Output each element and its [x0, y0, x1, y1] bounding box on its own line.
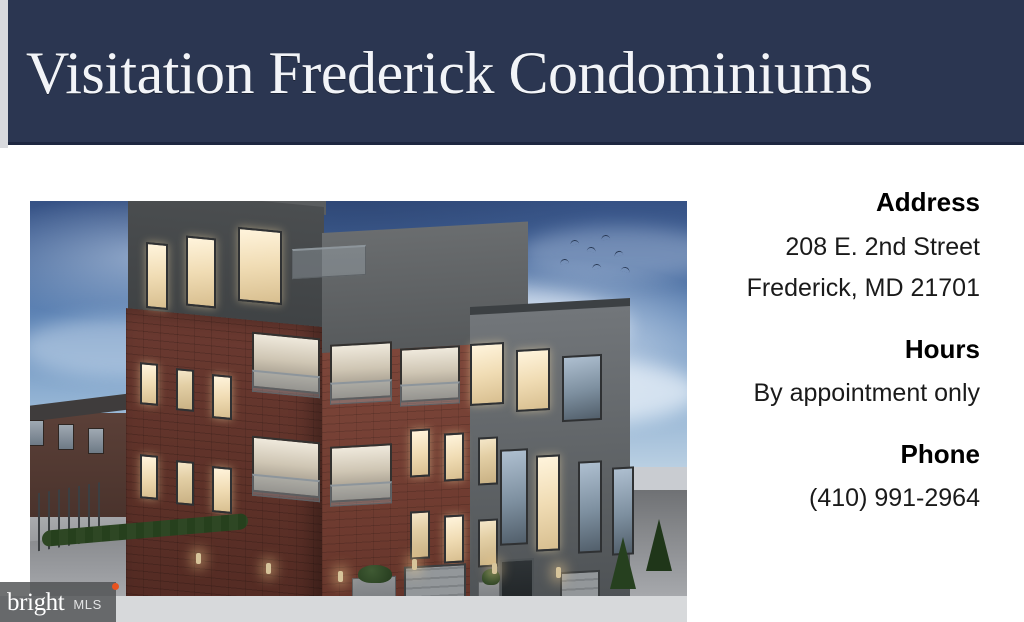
bright-mls-watermark: bright MLS	[0, 582, 116, 622]
rendering-artwork	[0, 167, 687, 622]
wing-window	[578, 460, 602, 553]
upper-window	[516, 348, 550, 412]
address-street: 208 E. 2nd Street	[699, 231, 980, 264]
roof-terrace-rail	[292, 245, 366, 279]
wing-window	[500, 448, 528, 546]
facade-window	[212, 374, 232, 420]
shrub	[482, 569, 500, 585]
bird	[560, 259, 569, 265]
facade-window	[478, 518, 498, 567]
neighbour-window	[58, 424, 74, 450]
facade-window	[140, 362, 158, 406]
building-rendering-photo: bright MLS	[0, 167, 687, 622]
facade-window	[176, 368, 194, 412]
wall-sconce	[338, 571, 343, 582]
balcony-rail	[330, 379, 392, 404]
balcony-rail	[330, 481, 392, 506]
info-group-address: Address 208 E. 2nd Street Frederick, MD …	[699, 186, 980, 305]
penthouse-window	[238, 227, 282, 305]
hours-heading: Hours	[699, 333, 980, 366]
facade-window	[478, 436, 498, 485]
address-heading: Address	[699, 186, 980, 219]
conifer-tree	[610, 537, 636, 589]
mls-brand-text: bright	[7, 590, 64, 615]
facade-window	[410, 510, 430, 559]
penthouse-window	[146, 242, 168, 310]
upper-window	[470, 342, 504, 406]
facade-window	[176, 460, 194, 506]
hours-value: By appointment only	[699, 377, 980, 410]
upper-window	[562, 354, 602, 422]
info-group-hours: Hours By appointment only	[699, 333, 980, 410]
left-edge-strip	[0, 0, 8, 148]
building-entry-door	[500, 558, 534, 618]
property-info-panel: Address 208 E. 2nd Street Frederick, MD …	[687, 150, 1024, 622]
wall-sconce	[492, 563, 497, 574]
garage-door	[560, 570, 600, 618]
phone-number[interactable]: (410) 991-2964	[699, 482, 980, 515]
garage-door	[404, 563, 466, 616]
balcony-rail	[400, 381, 460, 406]
wall-sconce	[196, 553, 201, 564]
phone-heading: Phone	[699, 438, 980, 471]
wall-sconce	[412, 559, 417, 570]
penthouse-window	[186, 236, 216, 309]
facade-window	[410, 428, 430, 477]
neighbour-window	[28, 420, 44, 446]
page-title: Visitation Frederick Condominiums	[8, 43, 873, 103]
mls-suffix-text: MLS	[73, 597, 102, 612]
facade-window	[444, 432, 464, 481]
shrub	[358, 565, 392, 583]
title-banner: Visitation Frederick Condominiums	[8, 0, 1024, 145]
facade-window	[140, 454, 158, 500]
address-city-state-zip: Frederick, MD 21701	[699, 272, 980, 305]
info-group-phone: Phone (410) 991-2964	[699, 438, 980, 515]
wall-sconce	[266, 563, 271, 574]
property-listing-card: Visitation Frederick Condominiums	[0, 0, 1024, 622]
wing-window	[536, 454, 560, 551]
facade-window	[212, 466, 232, 514]
wall-sconce	[556, 567, 561, 578]
neighbour-window	[88, 428, 104, 454]
mls-accent-dot-icon	[112, 583, 119, 590]
conifer-tree	[646, 519, 672, 571]
facade-window	[444, 514, 464, 563]
